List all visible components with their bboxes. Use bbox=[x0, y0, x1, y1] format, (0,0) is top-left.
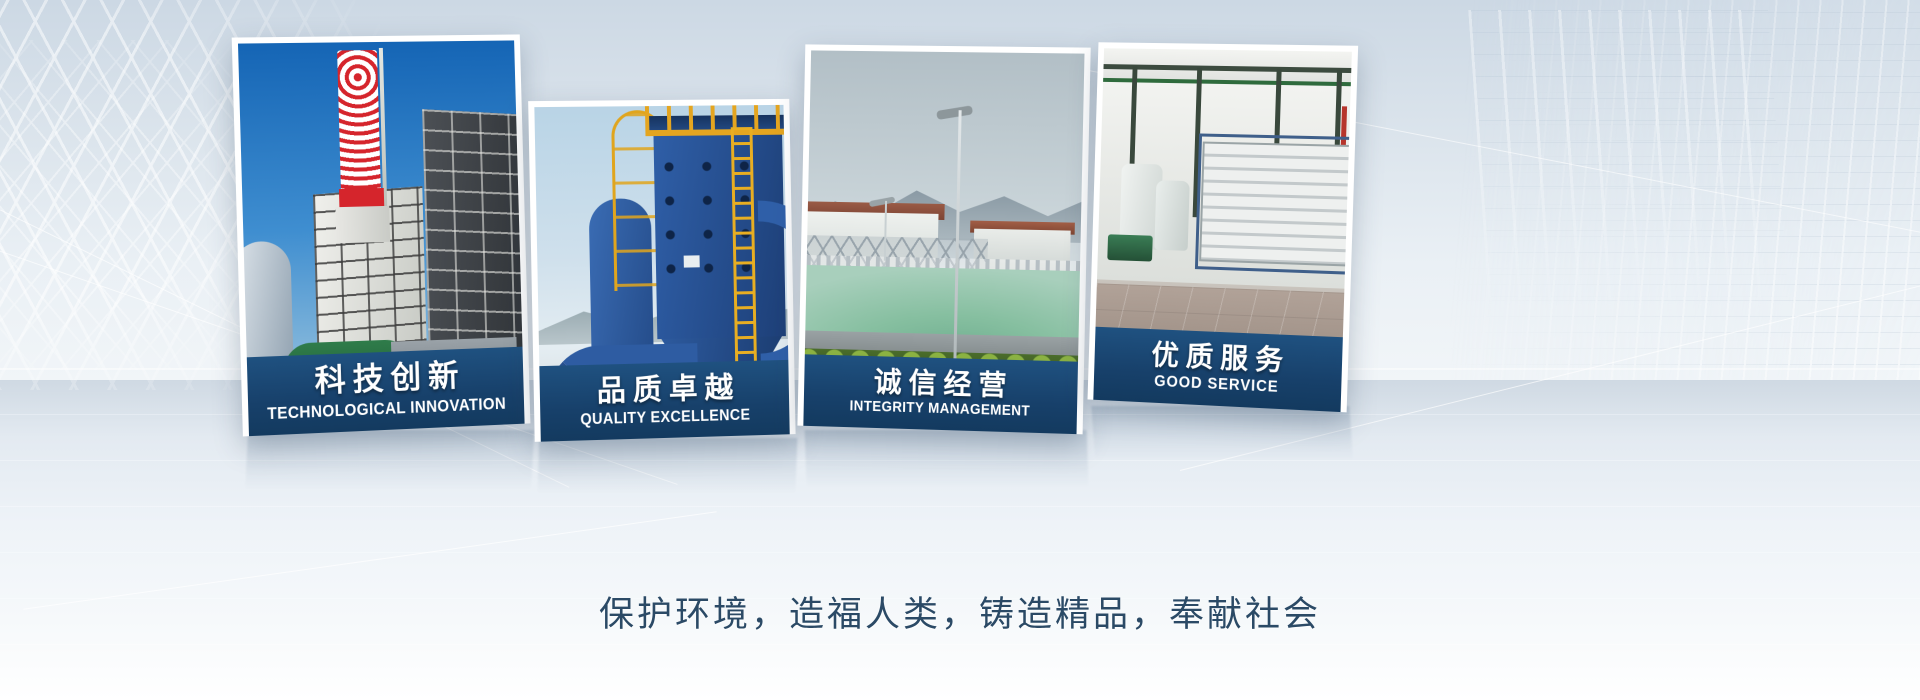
card-title-en: INTEGRITY MANAGEMENT bbox=[817, 398, 1064, 421]
card-title-cn: 诚信经营 bbox=[808, 364, 1074, 403]
card-caption: 品质卓越 QUALITY EXCELLENCE bbox=[539, 360, 789, 441]
banner-tagline: 保护环境，造福人类，铸造精品，奉献社会 bbox=[0, 586, 1920, 637]
card-title-cn: 品质卓越 bbox=[544, 370, 786, 409]
value-card-technological-innovation[interactable]: 科技创新 TECHNOLOGICAL INNOVATION bbox=[232, 34, 531, 436]
value-card-good-service[interactable]: 优质服务 GOOD SERVICE bbox=[1088, 42, 1359, 412]
card-caption: 诚信经营 INTEGRITY MANAGEMENT bbox=[803, 354, 1078, 434]
card-caption: 优质服务 GOOD SERVICE bbox=[1093, 327, 1343, 412]
value-card-strip: 科技创新 TECHNOLOGICAL INNOVATION bbox=[0, 0, 1920, 560]
value-card-integrity-management[interactable]: 诚信经营 INTEGRITY MANAGEMENT bbox=[797, 44, 1090, 434]
card-title-en: QUALITY EXCELLENCE bbox=[553, 406, 777, 429]
company-culture-banner: 科技创新 TECHNOLOGICAL INNOVATION bbox=[0, 0, 1920, 700]
value-card-quality-excellence[interactable]: 品质卓越 QUALITY EXCELLENCE bbox=[528, 99, 795, 442]
card-caption: 科技创新 TECHNOLOGICAL INNOVATION bbox=[247, 347, 525, 436]
